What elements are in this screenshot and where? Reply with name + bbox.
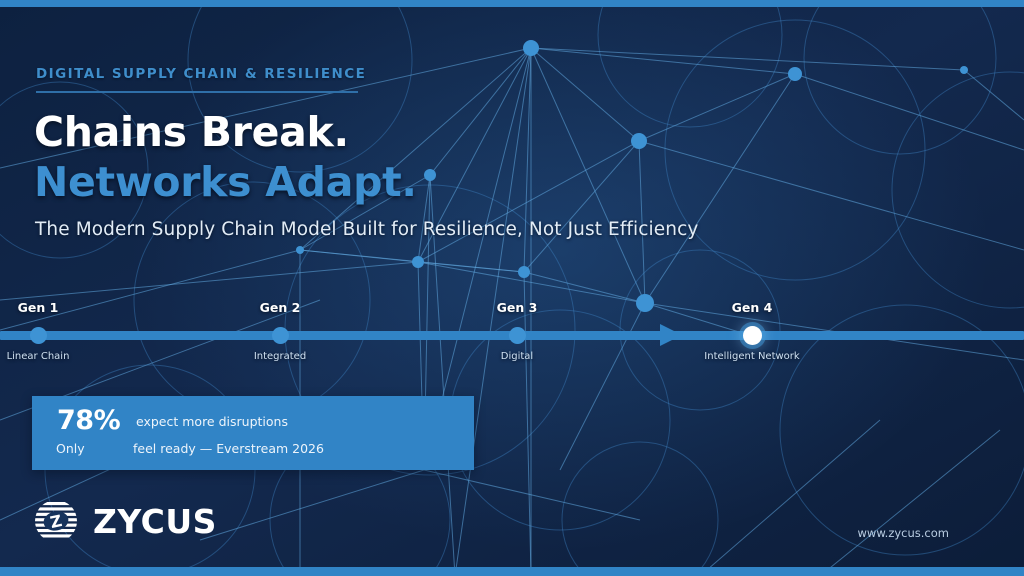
bottom-accent-bar [0, 567, 1024, 576]
timeline-arrow-icon [660, 324, 682, 346]
timeline-stop-label: Integrated [254, 351, 306, 362]
brand-logo-lockup[interactable]: Z ZYCUS [30, 498, 217, 544]
timeline-node-dot[interactable] [30, 327, 47, 344]
timeline-stop-label: Linear Chain [7, 351, 70, 362]
zycus-mark-icon: Z [30, 498, 82, 544]
timeline-node-dot[interactable] [509, 327, 526, 344]
slide-canvas: DIGITAL SUPPLY CHAIN & RESILIENCE Chains… [0, 0, 1024, 576]
timeline-node-dot[interactable] [272, 327, 289, 344]
top-accent-bar [0, 0, 1024, 7]
stat-only-label: Only [56, 441, 85, 456]
eyebrow-underline [36, 91, 358, 93]
timeline-node-dot-active[interactable] [743, 326, 762, 345]
timeline-stop-title: Gen 1 [18, 300, 59, 315]
headline-line-2: Networks Adapt. [34, 158, 417, 206]
maturity-timeline: Gen 1 Linear Chain Gen 2 Integrated Gen … [0, 300, 1024, 370]
eyebrow-label: DIGITAL SUPPLY CHAIN & RESILIENCE [36, 66, 366, 82]
timeline-stop-title: Gen 2 [260, 300, 301, 315]
stat-ready-caption: feel ready — Everstream 2026 [133, 441, 324, 456]
timeline-stop-label: Digital [501, 351, 533, 362]
statistic-callout-box: 78% expect more disruptions Only feel re… [32, 396, 474, 470]
timeline-stop-title: Gen 3 [497, 300, 538, 315]
brand-wordmark: ZYCUS [93, 505, 217, 538]
timeline-stop-label: Intelligent Network [704, 351, 799, 362]
headline-line-1: Chains Break. [34, 108, 349, 156]
subheadline: The Modern Supply Chain Model Built for … [35, 219, 698, 240]
timeline-stop-title: Gen 4 [732, 300, 773, 315]
website-url[interactable]: www.zycus.com [858, 526, 949, 540]
stat-percent-value: 78% [57, 405, 120, 436]
stat-percent-caption: expect more disruptions [136, 414, 288, 429]
